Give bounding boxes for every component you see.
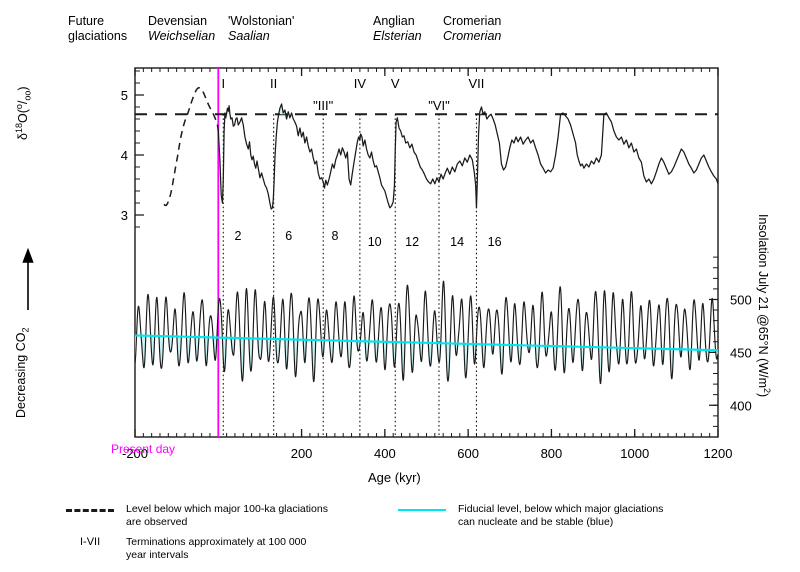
axis-label-age: Age (kyr) [368,470,421,485]
mis-stage-label-12: 12 [405,235,419,249]
legend-line-1: Terminations approximately at 100 000 [126,536,306,549]
y-left-major-ticks [135,95,144,215]
stage-name-wolstonian: 'Wolstonian'Saalian [228,14,294,44]
co2-axis-text: Decreasing CO2 [14,328,28,418]
stage-name-english: Anglian [373,14,422,29]
stage-name-english: Cromerian [443,14,501,29]
stage-name-alpine: Cromerian [443,29,501,44]
insolation-curve [135,281,718,383]
mis-stage-label-10: 10 [368,235,382,249]
stage-name-alpine: Saalian [228,29,294,44]
present-day-text: Present day [111,442,175,456]
termination-label-II: II [270,76,277,91]
age-axis-text: Age (kyr) [368,470,421,485]
stage-name-english-2: glaciations [68,29,127,44]
legend-line-2: can nucleate and be stable (blue) [458,516,663,529]
legend-line-1: Level below which major 100-ka glaciatio… [126,503,328,516]
future-projection-curve [164,88,218,206]
legend-text-fiducial: Fiducial level, below which major glacia… [458,503,663,528]
d18o-curve [218,104,718,209]
present-day-label: Present day [111,442,175,456]
legend-line-1: Fiducial level, below which major glacia… [458,503,663,516]
x-minor-ticks [135,68,718,437]
legend-text-dashed-level: Level below which major 100-ka glaciatio… [126,503,328,528]
axis-label-d18o: δ18O(o/oo) [14,86,33,140]
decreasing-co2-arrow-icon [24,250,33,310]
stage-name-anglian: AnglianElsterian [373,14,422,44]
stage-name-future: Futureglaciations [68,14,127,44]
climate-chart: -20020040060080010001200345400450500III"… [0,0,800,572]
y-right-tick-label: 500 [730,292,752,307]
termination-label-VI: "VI" [428,98,450,113]
mis-stage-label-8: 8 [331,229,338,243]
plot-frame [135,68,718,437]
termination-label-I: I [221,76,225,91]
y-left-tick-label: 4 [121,148,128,163]
y-left-tick-label: 5 [121,88,128,103]
mis-stage-label-6: 6 [285,229,292,243]
stage-name-english: 'Wolstonian' [228,14,294,29]
x-major-ticks [135,68,718,437]
mis-stage-label-14: 14 [450,235,464,249]
legend-swatch-terminations: I-VII [80,536,100,548]
legend-swatch-dashed [66,509,114,512]
insolation-axis-text: Insolation July 21 @65°N (W/m2) [756,214,770,397]
stage-name-cromerian: CromerianCromerian [443,14,501,44]
termination-label-III: "III" [313,98,333,113]
mis-stage-label-2: 2 [234,229,241,243]
axis-label-co2: Decreasing CO2 [14,328,31,418]
x-tick-label: 600 [457,446,479,461]
y-right-tick-label: 450 [730,345,752,360]
stage-name-english: Devensian [148,14,215,29]
d18o-axis-text: δ18O(o/oo) [16,86,30,140]
mis-stage-label-16: 16 [488,235,502,249]
x-tick-label: 1000 [620,446,649,461]
termination-label-VII: VII [469,76,485,91]
legend-line-2: year intervals [126,549,306,562]
x-tick-label: 400 [374,446,396,461]
x-tick-label: 800 [541,446,563,461]
x-tick-label: 1200 [704,446,733,461]
legend-text-terminations: Terminations approximately at 100 000yea… [126,536,306,561]
termination-label-V: V [391,76,400,91]
stage-name-devensian: DevensianWeichselian [148,14,215,44]
legend-line-2: are observed [126,516,328,529]
stage-name-alpine: Weichselian [148,29,215,44]
x-tick-label: 200 [291,446,313,461]
stage-name-alpine: Elsterian [373,29,422,44]
axis-label-insolation: Insolation July 21 @65°N (W/m2) [756,214,772,397]
termination-dotted-lines [223,114,476,437]
y-right-tick-label: 400 [730,398,752,413]
y-left-tick-label: 3 [121,208,128,223]
stage-name-english: Future [68,14,127,29]
termination-label-IV: IV [354,76,367,91]
legend-swatch-fiducial [398,509,446,511]
